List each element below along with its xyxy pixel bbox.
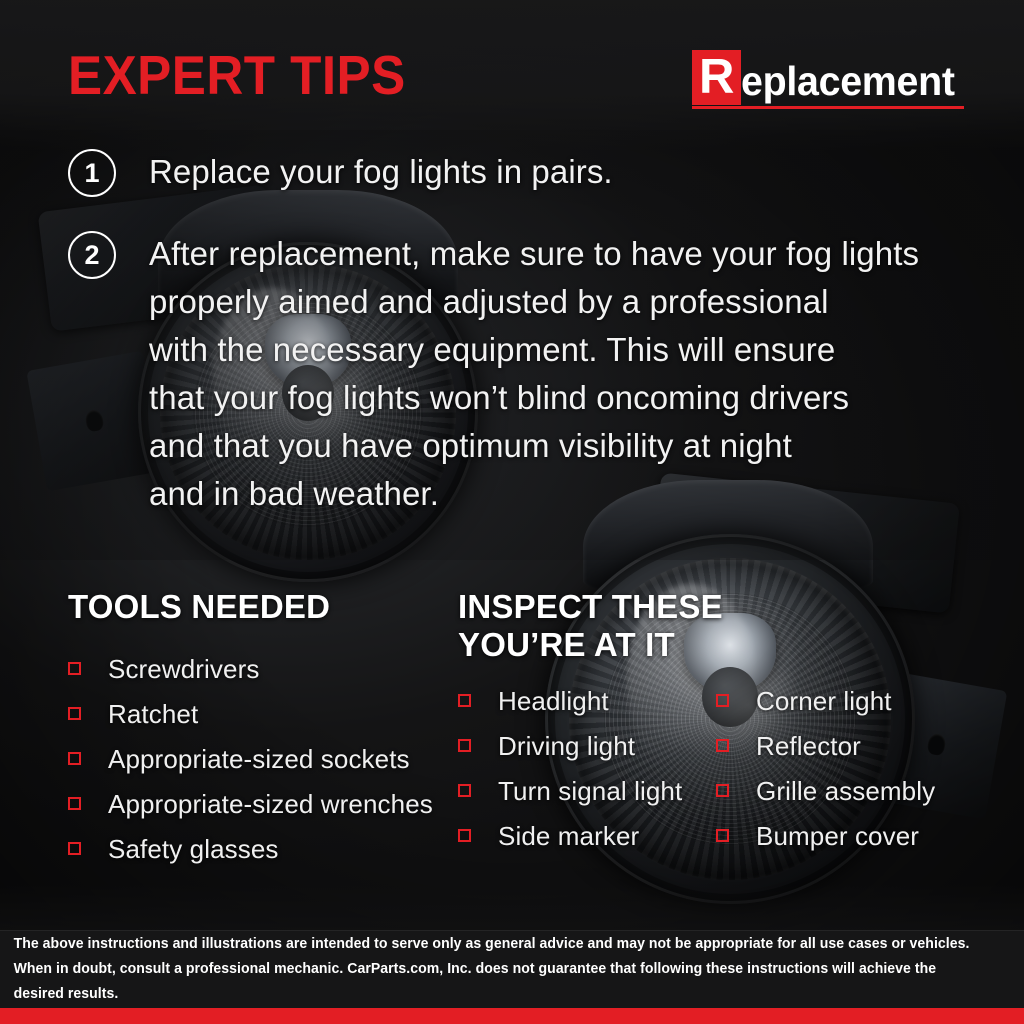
list-item[interactable]: Screwdrivers <box>68 646 458 691</box>
footer-disclaimer-text: The above instructions and illustrations… <box>0 932 993 1007</box>
list-item-label: Turn signal light <box>498 776 682 806</box>
tip-number-badge-1: 1 <box>68 149 116 197</box>
inspect-column-2: Corner light Reflector Grille assembly <box>716 678 968 858</box>
list-item[interactable]: Reflector <box>716 723 968 768</box>
tools-needed-heading: TOOLS NEEDED <box>68 588 458 626</box>
list-item-label: Appropriate-sized sockets <box>108 744 410 774</box>
list-item[interactable]: Headlight <box>458 678 716 723</box>
list-item[interactable]: Driving light <box>458 723 716 768</box>
checkbox-icon[interactable] <box>458 694 471 707</box>
list-item-label: Safety glasses <box>108 834 279 864</box>
tip-text-2: After replacement, make sure to have you… <box>149 230 919 518</box>
list-item-label: Appropriate-sized wrenches <box>108 789 433 819</box>
list-item-label: Bumper cover <box>756 821 919 851</box>
list-item[interactable]: Side marker <box>458 813 716 858</box>
checkbox-icon[interactable] <box>68 662 81 675</box>
logo-badge-letter: R <box>692 50 741 105</box>
checkbox-icon[interactable] <box>716 739 729 752</box>
checkbox-icon[interactable] <box>68 707 81 720</box>
lower-sections: TOOLS NEEDED Screwdrivers Ratchet App <box>68 588 968 871</box>
tools-needed-list: Screwdrivers Ratchet Appropriate-sized s… <box>68 646 458 871</box>
list-item[interactable]: Turn signal light <box>458 768 716 813</box>
checkbox-icon[interactable] <box>716 694 729 707</box>
list-item-label: Corner light <box>756 686 892 716</box>
two-column-layout: TOOLS NEEDED Screwdrivers Ratchet App <box>68 588 968 871</box>
tip-number-badge-2: 2 <box>68 231 116 279</box>
logo-wordmark: eplacement <box>741 59 955 105</box>
tip-item-1: 1 Replace your fog lights in pairs. <box>68 148 966 197</box>
footer-disclaimer-bar: The above instructions and illustrations… <box>0 930 1024 1008</box>
list-item[interactable]: Safety glasses <box>68 826 458 871</box>
inspect-column-1: Headlight Driving light Turn signal ligh… <box>458 678 716 858</box>
footer-red-accent-bar <box>0 1008 1024 1024</box>
list-item[interactable]: Appropriate-sized sockets <box>68 736 458 781</box>
list-item-label: Headlight <box>498 686 609 716</box>
list-item-label: Reflector <box>756 731 861 761</box>
list-item-label: Side marker <box>498 821 639 851</box>
list-item[interactable]: Bumper cover <box>716 813 968 858</box>
inspect-these-section: INSPECT THESE YOU’RE AT IT Headlight Dri… <box>458 588 968 871</box>
tip-item-2: 2 After replacement, make sure to have y… <box>68 230 966 518</box>
checkbox-icon[interactable] <box>68 797 81 810</box>
logo-row: R eplacement <box>692 50 964 105</box>
checkbox-icon[interactable] <box>458 829 471 842</box>
checkbox-icon[interactable] <box>68 842 81 855</box>
list-item[interactable]: Appropriate-sized wrenches <box>68 781 458 826</box>
list-item-label: Screwdrivers <box>108 654 259 684</box>
list-item[interactable]: Grille assembly <box>716 768 968 813</box>
checkbox-icon[interactable] <box>716 829 729 842</box>
list-item[interactable]: Ratchet <box>68 691 458 736</box>
tools-needed-section: TOOLS NEEDED Screwdrivers Ratchet App <box>68 588 458 871</box>
list-item-label: Ratchet <box>108 699 198 729</box>
header: EXPERT TIPS R eplacement <box>68 44 964 110</box>
checkbox-icon[interactable] <box>458 784 471 797</box>
inspect-these-heading: INSPECT THESE YOU’RE AT IT <box>458 588 968 664</box>
infographic-content: EXPERT TIPS R eplacement 1 Replace your … <box>0 0 1024 1024</box>
list-item[interactable]: Corner light <box>716 678 968 723</box>
list-item-label: Driving light <box>498 731 635 761</box>
tip-text-1: Replace your fog lights in pairs. <box>149 148 613 196</box>
expert-tips-infographic: EXPERT TIPS R eplacement 1 Replace your … <box>0 0 1024 1024</box>
checkbox-icon[interactable] <box>68 752 81 765</box>
replacement-brand-logo: R eplacement <box>692 50 964 109</box>
checkbox-icon[interactable] <box>458 739 471 752</box>
logo-underline <box>692 106 964 109</box>
inspect-these-list: Headlight Driving light Turn signal ligh… <box>458 678 968 858</box>
checkbox-icon[interactable] <box>716 784 729 797</box>
list-item-label: Grille assembly <box>756 776 935 806</box>
expert-tips-list: 1 Replace your fog lights in pairs. 2 Af… <box>68 148 966 518</box>
